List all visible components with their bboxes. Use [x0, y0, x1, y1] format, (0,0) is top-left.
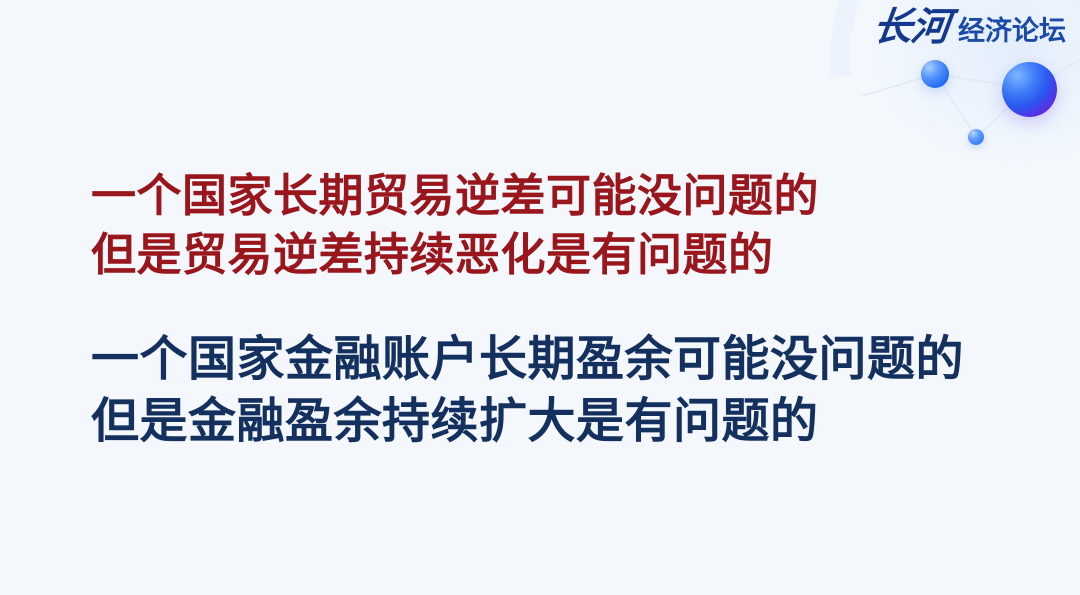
medium-blue-sphere — [921, 60, 949, 88]
logo-brush-text: 长河 — [871, 8, 952, 47]
logo-name-text: 经济论坛 — [958, 18, 1066, 45]
finance-paragraph: 一个国家金融账户长期盈余可能没问题的 但是金融盈余持续扩大是有问题的 — [91, 328, 1031, 452]
trade-line-1: 一个国家长期贸易逆差可能没问题的 — [91, 166, 1031, 225]
small-blue-sphere — [968, 129, 984, 145]
trade-line-2: 但是贸易逆差持续恶化是有问题的 — [91, 225, 1031, 284]
trade-paragraph: 一个国家长期贸易逆差可能没问题的 但是贸易逆差持续恶化是有问题的 — [91, 166, 1031, 284]
large-gradient-sphere — [1002, 62, 1057, 117]
slide-content: 一个国家长期贸易逆差可能没问题的 但是贸易逆差持续恶化是有问题的 一个国家金融账… — [91, 166, 1031, 452]
slide-canvas: 长河 经济论坛 一个国家长期贸易逆差可能没问题的 但是贸易逆差持续恶化是有问题的… — [0, 0, 1080, 595]
finance-line-1: 一个国家金融账户长期盈余可能没问题的 — [91, 328, 1031, 390]
forum-logo: 长河 经济论坛 — [873, 8, 1066, 47]
finance-line-2: 但是金融盈余持续扩大是有问题的 — [91, 390, 1031, 452]
